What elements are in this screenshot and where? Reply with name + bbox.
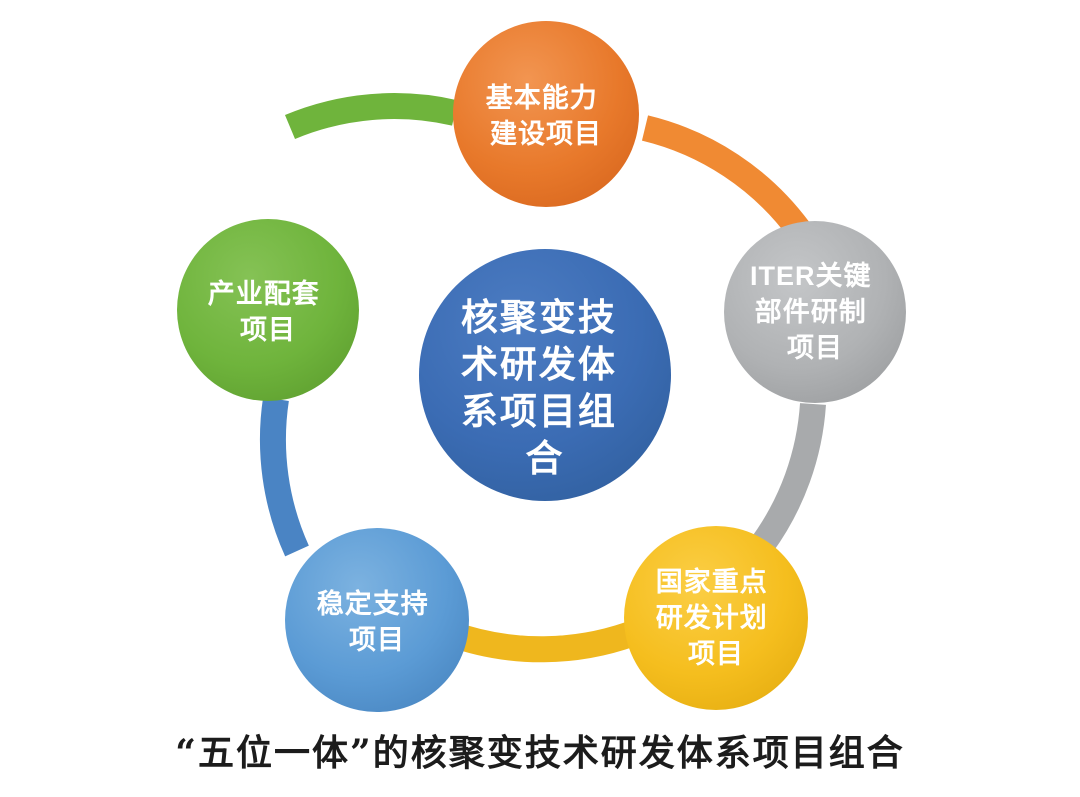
node-iter-key-components[interactable]: ITER关键 部件研制 项目 [724, 221, 906, 403]
ring-arc-blue [273, 399, 297, 551]
node-stable-support[interactable]: 稳定支持 项目 [285, 528, 469, 712]
node-circle-industry-supporting [177, 219, 359, 401]
figure-caption: “五位一体”的核聚变技术研发体系项目组合 [0, 724, 1080, 776]
fusion-project-cycle-diagram: 核聚变技 术研发体 系项目组 合 基本能力 建设项目 ITER关键 部件研制 项… [0, 0, 1080, 720]
node-circle-stable-support [285, 528, 469, 712]
hub-node[interactable]: 核聚变技 术研发体 系项目组 合 [419, 249, 671, 501]
ring-arc-yellow [449, 631, 639, 649]
ring-arc-orange [645, 128, 799, 230]
node-industry-supporting[interactable]: 产业配套 项目 [177, 219, 359, 401]
diagram-page: 核聚变技 术研发体 系项目组 合 基本能力 建设项目 ITER关键 部件研制 项… [0, 0, 1080, 797]
node-basic-capability[interactable]: 基本能力 建设项目 [453, 21, 639, 207]
node-national-key-rd-plan[interactable]: 国家重点 研发计划 项目 [624, 526, 808, 710]
node-circle-basic-capability [453, 21, 639, 207]
ring-arc-green [290, 106, 455, 127]
ring-arc-gray [762, 404, 813, 545]
